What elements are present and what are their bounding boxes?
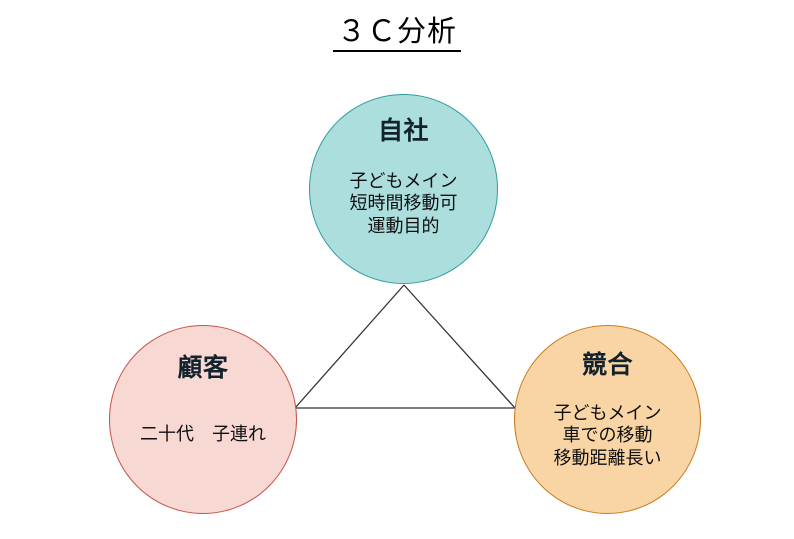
node-company-line-3: 運動目的 xyxy=(350,216,458,239)
page-title-text: ３Ｃ分析 xyxy=(333,15,461,52)
node-competitor[interactable]: 競合 子どもメイン 車での移動 移動距離長い xyxy=(514,325,701,514)
node-competitor-line-1: 子どもメイン xyxy=(554,403,662,426)
node-customer-body: 二十代 子連れ xyxy=(140,424,266,447)
node-customer-title: 顧客 xyxy=(177,354,228,382)
node-competitor-title: 競合 xyxy=(582,351,633,379)
node-company[interactable]: 自社 子どもメイン 短時間移動可 運動目的 xyxy=(309,94,498,284)
node-company-line-1: 子どもメイン xyxy=(350,171,458,194)
connector-line-company-competitor xyxy=(404,285,515,408)
node-customer[interactable]: 顧客 二十代 子連れ xyxy=(109,325,297,514)
node-company-title: 自社 xyxy=(378,117,429,145)
node-competitor-line-2: 車での移動 xyxy=(554,425,662,448)
node-company-body: 子どもメイン 短時間移動可 運動目的 xyxy=(350,171,458,240)
page-title: ３Ｃ分析 xyxy=(0,14,794,52)
connector-line-company-customer xyxy=(295,285,404,408)
node-customer-line-1: 二十代 子連れ xyxy=(140,424,266,447)
diagram-canvas: ３Ｃ分析 自社 子どもメイン 短時間移動可 運動目的 顧客 二十代 子連れ 競合… xyxy=(0,0,794,539)
node-competitor-line-3: 移動距離長い xyxy=(554,448,662,471)
node-company-line-2: 短時間移動可 xyxy=(350,193,458,216)
node-competitor-body: 子どもメイン 車での移動 移動距離長い xyxy=(554,403,662,472)
